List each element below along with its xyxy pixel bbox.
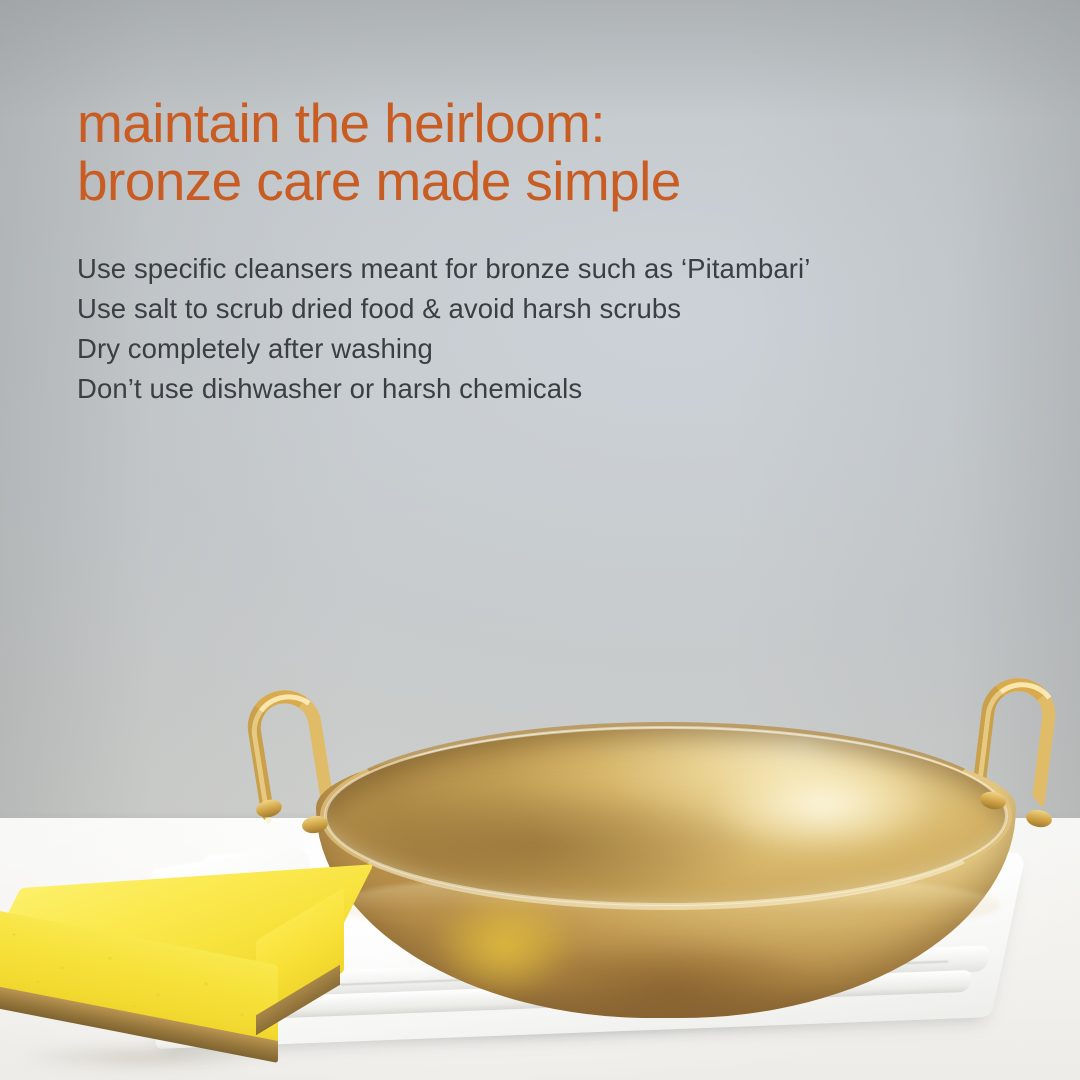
yellow-sponge	[0, 876, 360, 1080]
infographic-canvas: maintain the heirloom: bronze care made …	[0, 0, 1080, 1080]
page-title: maintain the heirloom: bronze care made …	[77, 94, 681, 210]
bowl-base-shadow	[470, 938, 876, 1018]
handle-rivet-right-outer	[1025, 808, 1054, 829]
care-tip-item: Use salt to scrub dried food & avoid har…	[77, 289, 810, 329]
bronze-kadai-bowl	[236, 676, 1080, 1016]
care-tip-item: Dry completely after washing	[77, 329, 810, 369]
care-tip-item: Don’t use dishwasher or harsh chemicals	[77, 369, 810, 409]
bowl-rim-lip	[324, 726, 1008, 906]
care-tips-list: Use specific cleansers meant for bronze …	[77, 249, 810, 409]
care-tip-item: Use specific cleansers meant for bronze …	[77, 249, 810, 289]
